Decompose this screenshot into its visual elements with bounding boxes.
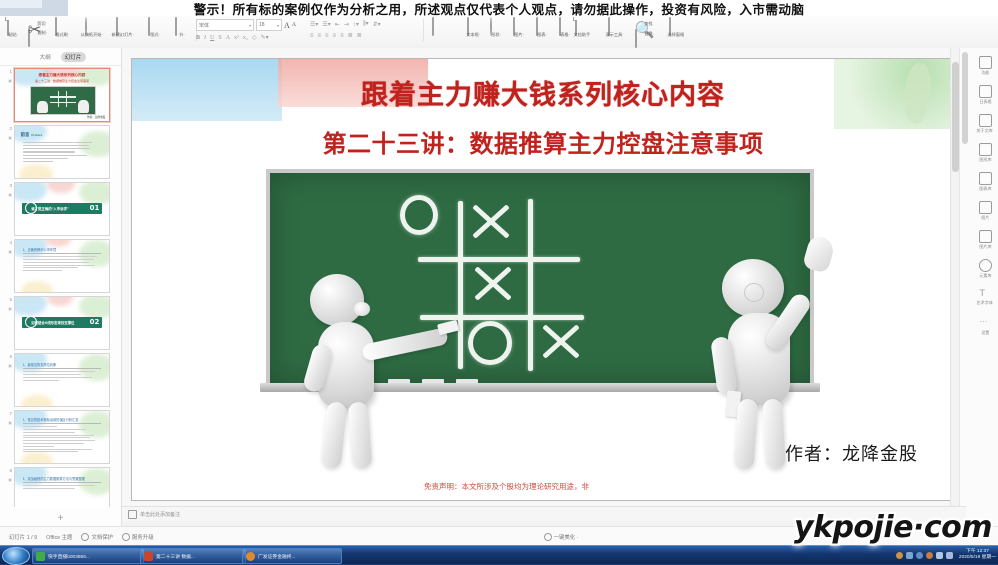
panel-tabs: 大纲 幻灯片 [0, 48, 121, 66]
thumb-heading: 前言 [21, 132, 30, 137]
status-slide-counter: 幻灯片 1 / 9 [9, 533, 37, 541]
text-direction-icon[interactable]: ⇵▾ [373, 21, 381, 28]
status-beautify[interactable]: 一键美化 · [544, 533, 579, 541]
paste-button[interactable]: 粘贴· [2, 17, 25, 38]
ribbon-group-insert: 文本框· 形状· 图片· 图表· 表格· [420, 17, 577, 47]
rail-item-chart[interactable]: 图表库 [972, 172, 998, 192]
thumb-number: 1 [9, 69, 12, 74]
numbering-icon[interactable]: ☰▾ [322, 21, 330, 28]
ribbon-group-clipboard: 粘贴· ✂ 剪切 复制· 格式刷 从稿纸开始· [2, 17, 107, 47]
picture-button[interactable]: 图片· [508, 17, 531, 38]
bold-icon[interactable]: B [196, 35, 200, 41]
slide-thumbnail-panel: 大纲 幻灯片 1▣ 跟着主力赚大钱系列核心内容 第二十三讲：数据推算主力控盘注意… [0, 48, 122, 526]
thumb-bullets: 2、常见的技术指标运用的误区分析汇总 [23, 417, 102, 454]
lock-icon: ▣ [3, 306, 12, 312]
rail-item-beautify[interactable]: 日表格 [972, 85, 998, 105]
status-beautify-label: 一键美化 · [554, 533, 579, 541]
find-icon: 🔍 [635, 20, 642, 27]
home-icon [979, 56, 992, 69]
slide-subtitle[interactable]: 第二十三讲：数据推算主力控盘注意事项 [132, 124, 954, 159]
format-painter-button[interactable]: 格式刷 [50, 17, 73, 38]
subscript-icon[interactable]: x₂ [243, 35, 248, 41]
select-icon [669, 18, 682, 31]
thumb-number: 5 [9, 297, 12, 302]
layout-label: 版式· [150, 32, 160, 38]
thumbnail-list[interactable]: 1▣ 跟着主力赚大钱系列核心内容 第二十三讲：数据推算主力控盘注意事项 [0, 65, 121, 507]
start-button[interactable] [2, 547, 30, 565]
template-icon [979, 143, 992, 156]
textbox-label: 文本框· [467, 32, 481, 38]
align-right-icon[interactable]: ≡ [325, 33, 329, 39]
thumb-band-number: 01 [90, 204, 100, 212]
status-protect-label: 文档保护 [91, 533, 113, 541]
select-pane-label: 选择窗格 [667, 32, 684, 38]
taskbar-button-1[interactable]: 快手直播b003866... [32, 548, 144, 564]
rail-item-template[interactable]: 图形库 [972, 143, 998, 163]
ribbon-group-tools: 文档助手 演示工具· 🔍 查找 替换· 选择窗格 [570, 17, 687, 47]
copy-label: 复制· [37, 30, 47, 36]
tray-icon-2[interactable] [906, 552, 913, 559]
bullets-icon[interactable]: ☰▾ [310, 21, 318, 28]
present-tool-label: 演示工具· [605, 32, 623, 38]
slide-author[interactable]: 作者：龙降金股 [785, 440, 918, 466]
format-painter-icon [55, 18, 68, 31]
thumbnail-item[interactable]: 2▣ 前言Preface [0, 122, 121, 179]
layout-button[interactable]: 版式· [143, 17, 166, 38]
thumb-subtitle: 第二十三讲：数据推算主力控盘注意事项 [21, 79, 104, 83]
settings-icon: ⋯ [980, 318, 991, 329]
ribbon-toolbar: 粘贴· ✂ 剪切 复制· 格式刷 从稿纸开始· [0, 16, 998, 49]
thumb-section-band: 如何结合K线形态来找支撑位 02 [22, 317, 103, 328]
copy-icon [28, 29, 35, 36]
indent-more-icon[interactable]: ≣ [348, 32, 353, 39]
rail-item-settings[interactable]: ⋯ 设置 [972, 318, 998, 336]
font-size-combo[interactable]: 18▾ [256, 19, 282, 31]
shrink-font-icon[interactable]: A [292, 20, 296, 31]
thumbnail-item[interactable]: 3▣ 谁才是正确的“入市诉求” 01 [0, 179, 121, 236]
select-pane-button[interactable]: 选择窗格 [664, 17, 688, 38]
warning-banner-text: 警示！所有标的案例仅作为分析之用，所述观点仅代表个人观点，请勿据此操作，投资有风… [194, 0, 805, 18]
slide-editing-stage: 跟着主力赚大钱系列核心内容 第二十三讲：数据推算主力控盘注意事项 [122, 48, 960, 506]
thumbnail-slide-5[interactable]: 如何结合K线形态来找支撑位 02 [14, 296, 110, 350]
present-tool-button[interactable]: 演示工具· [602, 17, 627, 38]
textbox-button[interactable]: 文本框· [462, 17, 485, 38]
thumb-number: 4 [9, 240, 12, 245]
thumbnail-slide-2[interactable]: 前言Preface [14, 125, 110, 179]
add-slide-button[interactable]: + [0, 513, 121, 524]
app-icon [36, 552, 45, 561]
taskbar-clock[interactable]: 下午 12:37 2020/5/18 星期一 [959, 549, 996, 561]
thumb-number: 8 [9, 468, 12, 473]
rail-scrollbar[interactable] [962, 52, 968, 144]
thumbnail-slide-7[interactable]: 2、常见的技术指标运用的误区分析汇总 [14, 410, 110, 464]
notes-placeholder: 单击此处添加备注 [140, 511, 180, 518]
paste-label: 粘贴· [9, 32, 19, 38]
thumb-bullets: 1、正确的辨识人市环境 [23, 247, 102, 273]
ribbon-group-paragraph: ☰▾ ☰▾ ⇤ ⇥ ↕▾ ⫼▾ ⇵▾ ≡ ≡ ≡ ≡ ≡ ≣ ≣ [310, 17, 381, 47]
taskbar-button-3-label: 广发证券金融终... [258, 553, 296, 560]
lock-icon: ▣ [3, 477, 12, 483]
scrollbar-thumb[interactable] [952, 62, 959, 172]
taskbar-button-3[interactable]: 广发证券金融终... [242, 548, 342, 564]
tray-icon-4[interactable] [926, 552, 933, 559]
chart-rail-icon [979, 172, 992, 185]
rail-item-artistic-text[interactable]: T 艺术字体 [972, 288, 998, 306]
underline-icon[interactable]: U [210, 35, 214, 41]
taskbar-button-2[interactable]: 第二十三讲 数据... [140, 548, 246, 564]
network-icon[interactable] [946, 552, 953, 559]
slide-disclaimer[interactable]: 免责声明：本文所涉及个股均为理论研究用途，非 [424, 481, 589, 492]
font-size-value: 18 [259, 22, 265, 28]
rail-item-home[interactable]: 功能 [972, 56, 998, 76]
lock-icon: ▣ [3, 192, 12, 198]
lock-icon: ▣ [3, 78, 12, 84]
app-icon [144, 552, 153, 561]
cut-button[interactable]: ✂ 剪切 [25, 19, 50, 27]
thumb-number: 7 [9, 411, 12, 416]
windows-taskbar: 快手直播b003866... 第二十三讲 数据... 广发证券金融终... 下午… [0, 545, 998, 564]
rail-item-note[interactable]: 图片 [972, 201, 998, 221]
lock-icon: ▣ [3, 363, 12, 369]
highlight-icon[interactable]: ✎▾ [261, 34, 269, 41]
new-slide-icon [116, 18, 129, 31]
thumb-band-number: 02 [90, 318, 100, 326]
decrease-indent-icon[interactable]: ⇤ [335, 21, 340, 28]
upgrade-icon [122, 533, 130, 541]
thumbnail-item[interactable]: 5▣ 如何结合K线形态来找支撑位 02 [0, 293, 121, 350]
artistic-text-icon: T [980, 288, 991, 299]
strikethrough-icon[interactable]: S [218, 35, 221, 41]
lock-icon: ▣ [3, 135, 12, 141]
thumbnail-slide-4[interactable]: 1、正确的辨识人市环境 [14, 239, 110, 293]
slide-title[interactable]: 跟着主力赚大钱系列核心内容 [132, 73, 954, 112]
copy-button[interactable]: 复制· [25, 28, 50, 36]
doc-assistant-button[interactable]: 文档助手 [570, 17, 594, 38]
banner-edge-left-inner [0, 0, 42, 8]
align-left-icon[interactable]: ≡ [310, 33, 314, 39]
thumb-bullets: 1、最常见的支撑位判断 [23, 362, 102, 382]
paste-icon [7, 18, 20, 31]
table-label: 表格· [561, 32, 571, 38]
gear-icon [25, 316, 37, 328]
resource-icon [979, 259, 992, 272]
replace-button[interactable]: 替换· [635, 29, 654, 37]
tab-slides[interactable]: 幻灯片 [61, 52, 86, 62]
image-icon [979, 230, 992, 243]
thumbnail-item[interactable]: 4▣ 1、正确的辨识人市环境 [0, 236, 121, 293]
taskbar-button-2-label: 第二十三讲 数据... [156, 553, 195, 560]
thumb-number: 2 [9, 126, 12, 131]
thumb-section-band: 谁才是正确的“入市诉求” 01 [22, 203, 103, 214]
text-color-icon[interactable]: A [226, 35, 230, 41]
app-icon [246, 552, 255, 561]
thumbnail-item[interactable]: 7▣ 2、常见的技术指标运用的误区分析汇总 [0, 407, 121, 464]
thumb-number: 6 [9, 354, 12, 359]
thumb-bullet-title: 3、实战级别的主力数据推算方法与思路整理 [23, 476, 102, 483]
new-slide-label: 新建幻灯片· [112, 32, 134, 38]
volume-icon[interactable] [936, 552, 943, 559]
shapes-label: 形状· [492, 32, 502, 38]
cut-label: 剪切 [37, 21, 45, 27]
thumb-bullet-title: 1、正确的辨识人市环境 [23, 247, 102, 254]
find-button[interactable]: 🔍 查找 [635, 19, 654, 27]
chart-icon [536, 18, 549, 31]
from-outline-button[interactable]: 从稿纸开始· [77, 17, 106, 38]
thumbnail-item[interactable]: 1▣ 跟着主力赚大钱系列核心内容 第二十三讲：数据推算主力控盘注意事项 [0, 65, 121, 122]
lock-icon: ▣ [3, 249, 12, 255]
from-outline-icon [85, 18, 98, 31]
thumb-chalkboard [30, 86, 96, 115]
doc-assistant-label: 文档助手 [573, 32, 590, 38]
indent-less-icon[interactable]: ≣ [357, 32, 362, 39]
new-slide-button[interactable]: 新建幻灯片· [108, 17, 137, 38]
textbox-icon [467, 18, 480, 31]
columns-icon[interactable]: ⫼▾ [363, 20, 369, 28]
status-upgrade-label: 服务升级 [132, 533, 154, 541]
tab-outline[interactable]: 大纲 [36, 52, 55, 62]
thumb-number: 3 [9, 183, 12, 188]
cut-icon: ✂ [28, 20, 35, 27]
thumb-bullet-title: 1、最常见的支撑位判断 [23, 362, 102, 369]
align-center-icon[interactable]: ≡ [318, 33, 322, 39]
italic-icon[interactable]: I [204, 35, 206, 41]
section-button[interactable]: 节· [170, 17, 193, 38]
clear-format-icon[interactable]: ◇ [252, 34, 257, 41]
doc-assistant-icon [575, 18, 588, 31]
font-name-combo[interactable]: 宋体▾ [196, 19, 254, 31]
rail-item-cloud[interactable]: 关于文库 [972, 114, 998, 134]
taskbar-button-1-label: 快手直播b003866... [48, 553, 90, 560]
status-upgrade[interactable]: 服务升级 [122, 533, 154, 541]
justify-icon[interactable]: ≡ [333, 33, 337, 39]
cloud-icon [979, 114, 992, 127]
thumbnail-slide-6[interactable]: 1、最常见的支撑位判断 [14, 353, 110, 407]
status-protect[interactable]: 文档保护 [81, 533, 113, 541]
picture-icon [513, 18, 526, 31]
site-watermark: ykpojie·com [794, 510, 992, 545]
thumb-heading-en: Preface [31, 133, 42, 137]
font-name-value: 宋体 [199, 22, 209, 29]
section-icon [175, 18, 188, 31]
replace-label: 替换· [644, 31, 654, 37]
wps-presentation-window: 粘贴· ✂ 剪切 复制· 格式刷 从稿纸开始· [0, 0, 998, 545]
grow-font-icon[interactable]: A [284, 20, 290, 31]
thumbnail-slide-3[interactable]: 谁才是正确的“入市诉求” 01 [14, 182, 110, 236]
thumb-band-title: 如何结合K线形态来找支撑位 [31, 320, 74, 325]
right-tool-rail: 功能 日表格 关于文库 图形库 图表库 图片 [959, 48, 998, 526]
superscript-icon[interactable]: x² [234, 35, 239, 41]
rail-item-list: 功能 日表格 关于文库 图形库 图表库 图片 [972, 56, 998, 345]
line-spacing-icon[interactable]: ↕▾ [353, 21, 359, 28]
beautify-icon [979, 85, 992, 98]
increase-indent-icon[interactable]: ⇥ [344, 21, 349, 28]
shield-icon [81, 533, 89, 541]
replace-icon [635, 30, 642, 37]
tray-icon-3[interactable] [916, 552, 923, 559]
thumbnail-item[interactable]: 8▣ 3、实战级别的主力数据推算方法与思路整理 [0, 464, 121, 507]
notes-icon [128, 510, 137, 519]
picture-label: 图片· [515, 32, 525, 38]
distribute-icon[interactable]: ≡ [340, 33, 344, 39]
shape-fill-button[interactable] [427, 17, 450, 31]
rail-item-image[interactable]: 图片库 [972, 230, 998, 250]
current-slide[interactable]: 跟着主力赚大钱系列核心内容 第二十三讲：数据推算主力控盘注意事项 [131, 58, 955, 501]
thumb-band-title: 谁才是正确的“入市诉求” [31, 206, 68, 211]
thumbnail-item[interactable]: 6▣ 1、最常见的支撑位判断 [0, 350, 121, 407]
clock-date: 2020/5/18 星期一 [959, 555, 996, 561]
beautify-status-icon [544, 533, 552, 541]
thumb-bullets: 3、实战级别的主力数据推算方法与思路整理 [23, 476, 102, 491]
thumbnail-slide-1[interactable]: 跟着主力赚大钱系列核心内容 第二十三讲：数据推算主力控盘注意事项 作者：龙降金股 [14, 68, 110, 122]
ribbon-group-font: 宋体▾ 18▾ A A B I U S A x² x₂ ◇ ✎▾ [196, 17, 296, 47]
gear-icon [25, 202, 37, 214]
note-icon [979, 201, 992, 214]
from-outline-label: 从稿纸开始· [81, 32, 103, 38]
find-label: 查找 [644, 21, 652, 27]
warning-banner-overlay: 警示！所有标的案例仅作为分析之用，所述观点仅代表个人观点，请勿据此操作，投资有风… [0, 0, 998, 16]
tray-icon-1[interactable] [896, 552, 903, 559]
ribbon-group-slides: 新建幻灯片· 版式· 节· [108, 17, 200, 47]
thumbnail-slide-8[interactable]: 3、实战级别的主力数据推算方法与思路整理 [14, 467, 110, 507]
shape-fill-icon [432, 18, 445, 31]
system-tray: 下午 12:37 2020/5/18 星期一 [896, 547, 996, 563]
chart-button[interactable]: 图表· [531, 17, 554, 38]
present-tool-icon [608, 18, 621, 31]
section-label: 节· [179, 32, 185, 38]
layout-icon [148, 18, 161, 31]
shapes-button[interactable]: 形状· [485, 17, 508, 38]
lock-icon: ▣ [3, 420, 12, 426]
format-painter-label: 格式刷 [55, 32, 68, 38]
chart-label: 图表· [538, 32, 548, 38]
thumb-bullet-title: 2、常见的技术指标运用的误区分析汇总 [23, 417, 102, 424]
status-theme[interactable]: Office 主题 [46, 533, 72, 541]
thumb-lines [23, 142, 98, 165]
thumb-title: 跟着主力赚大钱系列核心内容 [23, 73, 102, 78]
shapes-icon [490, 18, 503, 31]
rail-item-resource[interactable]: 元素库 [972, 259, 998, 279]
